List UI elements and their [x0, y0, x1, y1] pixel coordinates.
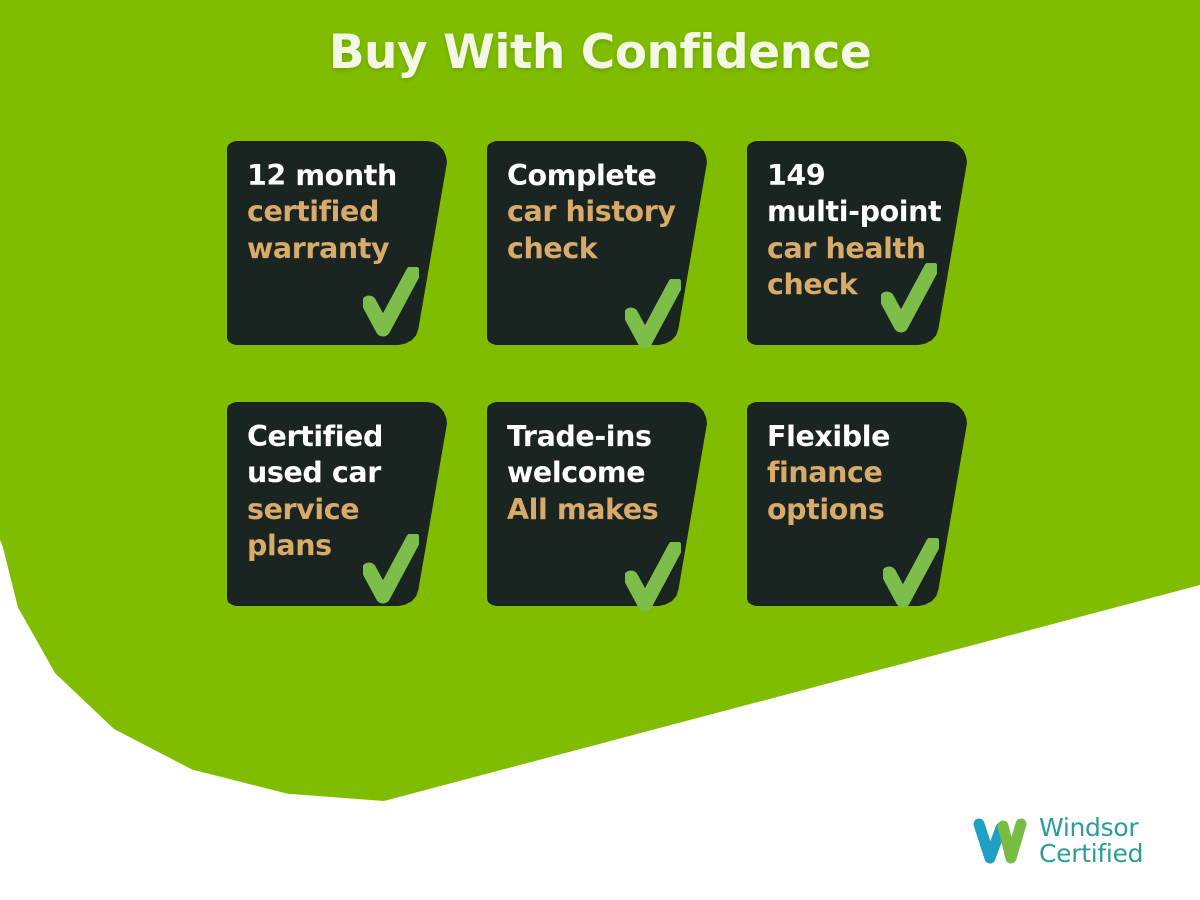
card-line: Flexible [767, 419, 945, 455]
logo-wordmark: Windsor Certified [1039, 815, 1143, 868]
feature-card[interactable]: Flexible finance options [747, 402, 967, 606]
feature-card[interactable]: 12 month certified warranty [227, 141, 447, 345]
card-line: 149 [767, 158, 945, 194]
card-line: All makes [507, 492, 685, 528]
logo-line-2: Certified [1039, 841, 1143, 868]
card-text: Complete car history check [507, 158, 685, 267]
feature-card[interactable]: Trade-ins welcome All makes [487, 402, 707, 606]
feature-card[interactable]: Certified used car service plans [227, 402, 447, 606]
card-line: car health [767, 231, 945, 267]
card-line: certified [247, 194, 425, 230]
card-text: Trade-ins welcome All makes [507, 419, 685, 528]
card-line: 12 month [247, 158, 425, 194]
card-line: plans [247, 528, 425, 564]
card-text: 149 multi-point car health check [767, 158, 945, 304]
card-row-2: Certified used car service plans Trade-i… [227, 402, 987, 606]
card-line: options [767, 492, 945, 528]
card-line: service [247, 492, 425, 528]
brand-logo[interactable]: Windsor Certified [972, 812, 1143, 870]
feature-card[interactable]: 149 multi-point car health check [747, 141, 967, 345]
page-title: Buy With Confidence [0, 26, 1200, 80]
card-line: finance [767, 455, 945, 491]
card-line: Trade-ins [507, 419, 685, 455]
card-line: check [507, 231, 685, 267]
card-text: Flexible finance options [767, 419, 945, 528]
card-text: 12 month certified warranty [247, 158, 425, 267]
card-row-1: 12 month certified warranty Complete car… [227, 141, 987, 345]
logo-line-1: Windsor [1039, 815, 1143, 842]
card-line: Complete [507, 158, 685, 194]
feature-card-grid: 12 month certified warranty Complete car… [227, 141, 987, 606]
card-line: check [767, 267, 945, 303]
card-line: multi-point [767, 194, 945, 230]
card-line: Certified [247, 419, 425, 455]
feature-card[interactable]: Complete car history check [487, 141, 707, 345]
poster-canvas: Buy With Confidence 12 month certified w… [0, 0, 1200, 900]
card-line: welcome [507, 455, 685, 491]
card-text: Certified used car service plans [247, 419, 425, 565]
card-line: used car [247, 455, 425, 491]
card-line: car history [507, 194, 685, 230]
windsor-w-icon [972, 812, 1030, 870]
card-line: warranty [247, 231, 425, 267]
